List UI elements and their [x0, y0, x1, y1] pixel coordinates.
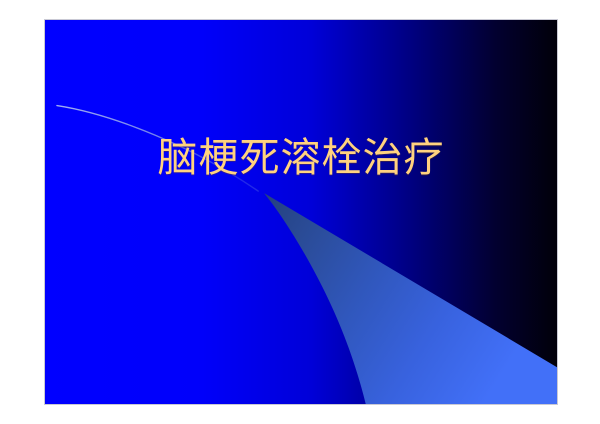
- page-canvas: 脑梗死溶栓治疗: [0, 0, 600, 424]
- slide-title-container: 脑梗死溶栓治疗: [45, 20, 557, 404]
- presentation-slide: 脑梗死溶栓治疗: [44, 19, 558, 405]
- page-title: 脑梗死溶栓治疗: [158, 137, 445, 179]
